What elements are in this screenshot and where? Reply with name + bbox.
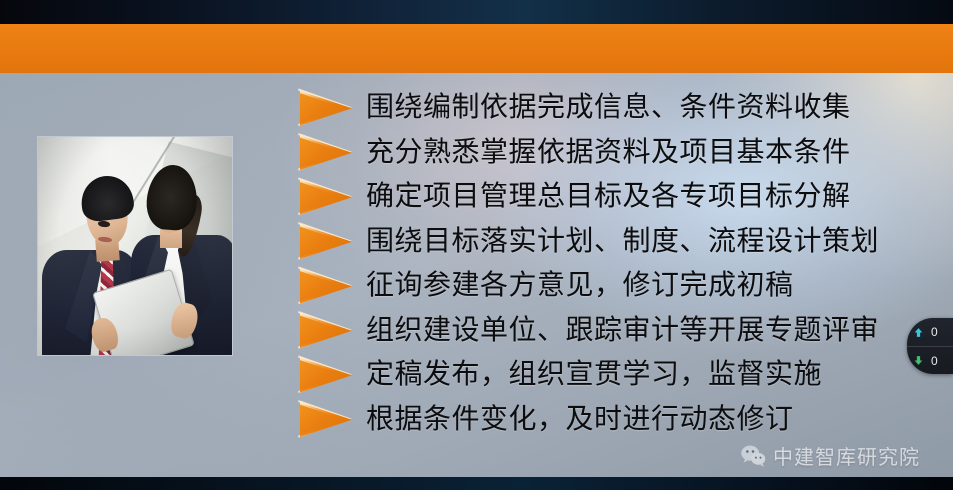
list-item: 征询参建各方意见，修订完成初稿 — [300, 264, 900, 309]
arrow-up-icon — [912, 326, 925, 339]
right-triangle-arrow-icon — [300, 179, 352, 215]
right-triangle-arrow-icon — [300, 357, 352, 393]
right-triangle-arrow-icon — [300, 135, 352, 171]
right-triangle-arrow-icon — [300, 402, 352, 438]
list-item: 定稿发布，组织宣贯学习，监督实施 — [300, 353, 900, 398]
list-item: 根据条件变化，及时进行动态修订 — [300, 398, 900, 443]
list-item: 围绕编制依据完成信息、条件资料收集 — [300, 86, 900, 131]
business-people-tablet-photo — [38, 137, 232, 355]
upvote-button[interactable]: 0 — [907, 318, 953, 346]
upvote-count: 0 — [931, 325, 938, 339]
list-item: 确定项目管理总目标及各专项目标分解 — [300, 175, 900, 220]
right-triangle-arrow-icon — [300, 268, 352, 304]
list-item-label: 征询参建各方意见，修订完成初稿 — [366, 272, 794, 300]
right-triangle-arrow-icon — [300, 224, 352, 260]
slide-canvas: 围绕编制依据完成信息、条件资料收集 充分熟悉掌握依据资料及项目基本条件 确定项目… — [0, 0, 953, 490]
right-triangle-arrow-icon — [300, 313, 352, 349]
list-item-label: 组织建设单位、跟踪审计等开展专题评审 — [366, 317, 879, 345]
top-orange-band — [0, 24, 953, 73]
list-item: 组织建设单位、跟踪审计等开展专题评审 — [300, 309, 900, 354]
top-dark-bar — [0, 0, 953, 24]
arrow-down-icon — [912, 354, 925, 367]
list-item-label: 确定项目管理总目标及各专项目标分解 — [366, 183, 851, 211]
watermark: 中建智库研究院 — [740, 441, 920, 470]
right-triangle-arrow-icon — [300, 90, 352, 126]
list-item-label: 定稿发布，组织宣贯学习，监督实施 — [366, 361, 822, 389]
list-item: 充分熟悉掌握依据资料及项目基本条件 — [300, 131, 900, 176]
photo-scene — [38, 137, 232, 355]
bullet-list: 围绕编制依据完成信息、条件资料收集 充分熟悉掌握依据资料及项目基本条件 确定项目… — [300, 86, 900, 442]
downvote-button[interactable]: 0 — [907, 346, 953, 374]
bottom-dark-bar — [0, 477, 953, 490]
watermark-text: 中建智库研究院 — [773, 441, 920, 470]
wechat-logo-icon — [740, 443, 766, 469]
list-item: 围绕目标落实计划、制度、流程设计策划 — [300, 220, 900, 265]
list-item-label: 根据条件变化，及时进行动态修订 — [366, 406, 794, 434]
list-item-label: 围绕编制依据完成信息、条件资料收集 — [366, 94, 851, 122]
list-item-label: 围绕目标落实计划、制度、流程设计策划 — [366, 228, 879, 256]
downvote-count: 0 — [931, 354, 938, 368]
vote-widget[interactable]: 0 0 — [907, 318, 953, 374]
photo-vignette — [38, 137, 232, 355]
list-item-label: 充分熟悉掌握依据资料及项目基本条件 — [366, 139, 851, 167]
